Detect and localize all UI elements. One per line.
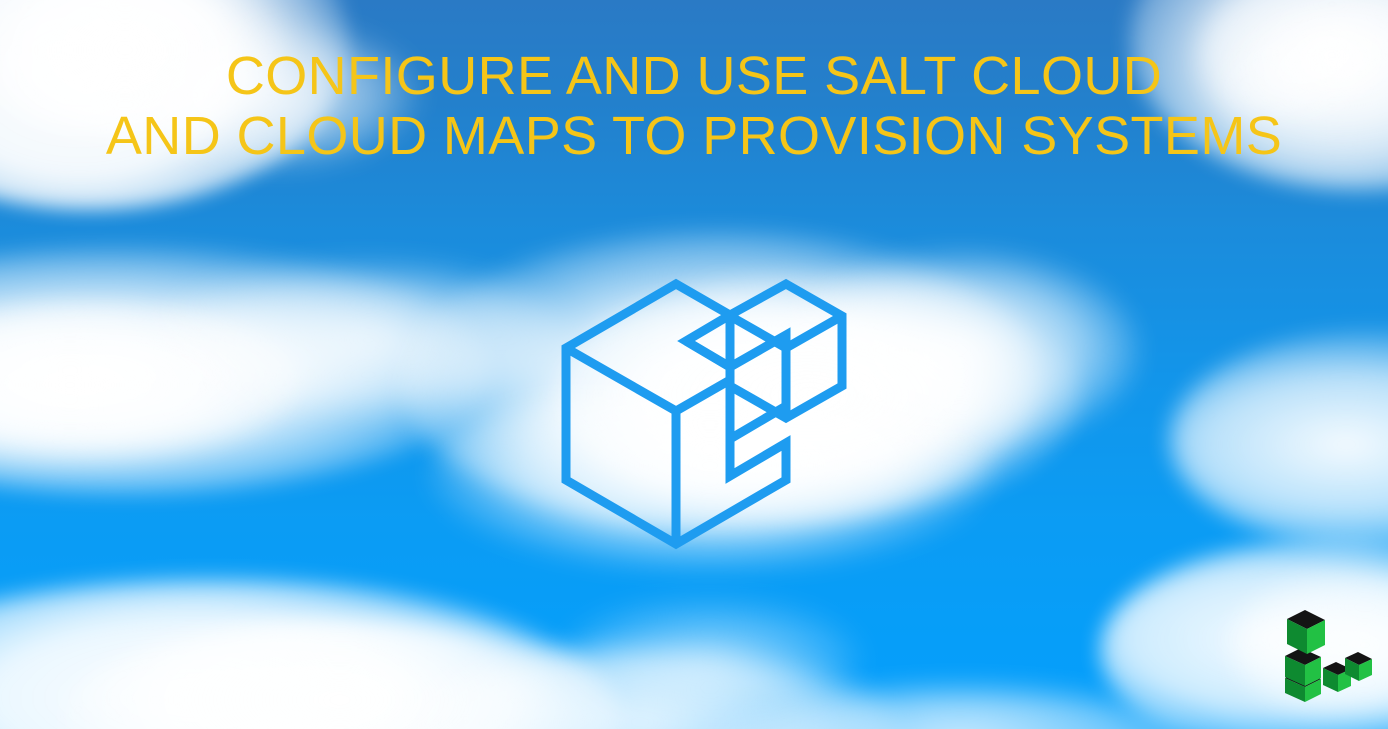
cube-left-top [1287,610,1325,654]
big-cube-notch-edge [686,341,730,367]
saltstack-cube-cluster-logo [1281,606,1373,702]
cloud-left-middle [0,245,490,495]
cube-cluster-group [1285,610,1372,702]
cloud-right-middle [1170,330,1388,550]
cloud-bottom-center-2 [700,690,1220,729]
salt-cube-logo [548,258,848,558]
slide-canvas: CONFIGURE AND USE SALT CLOUD AND CLOUD M… [0,0,1388,729]
salt-cube-logo-outline [566,284,842,544]
cloud-left-middle-3 [150,262,570,412]
title-line-1: CONFIGURE AND USE SALT CLOUD [0,46,1388,106]
cloud-bottom-wisp [560,600,860,720]
big-cube-top-right-edge [676,380,730,411]
slide-title: CONFIGURE AND USE SALT CLOUD AND CLOUD M… [0,46,1388,166]
title-line-2: AND CLOUD MAPS TO PROVISION SYSTEMS [0,106,1388,166]
cloud-bottom-center [380,650,900,729]
cloud-bottom-left [0,580,620,729]
cloud-bottom-left-2 [60,620,620,729]
cloud-left-middle-2 [0,300,300,470]
